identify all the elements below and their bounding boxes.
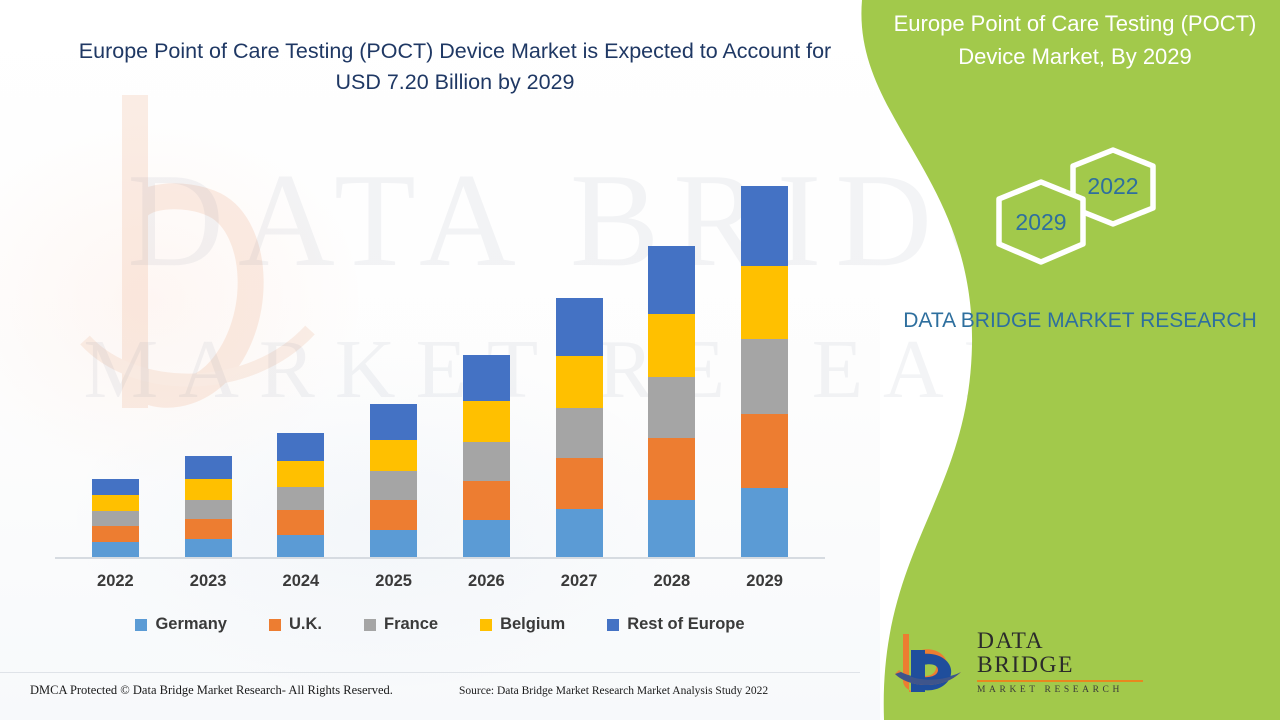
bar-segment bbox=[648, 246, 695, 314]
logo-sub-text: MARKET RESEARCH bbox=[977, 686, 1143, 696]
bar-segment bbox=[463, 481, 510, 520]
legend-item[interactable]: U.K. bbox=[269, 615, 322, 634]
bar-column bbox=[162, 175, 255, 558]
legend-item[interactable]: Germany bbox=[135, 615, 227, 634]
bar-stack-2027 bbox=[556, 298, 603, 558]
bar-segment bbox=[741, 414, 788, 488]
bar-segment bbox=[648, 377, 695, 438]
x-axis-label: 2029 bbox=[718, 572, 811, 591]
bar-segment bbox=[648, 314, 695, 377]
bar-column bbox=[440, 175, 533, 558]
legend-item[interactable]: Belgium bbox=[480, 615, 565, 634]
bar-segment bbox=[463, 401, 510, 442]
hexagon-2029-label: 2029 bbox=[1015, 209, 1066, 235]
legend-swatch-icon bbox=[480, 619, 492, 631]
bar-segment bbox=[277, 433, 324, 461]
bar-stack-2023 bbox=[185, 456, 232, 558]
bar-segment bbox=[648, 438, 695, 500]
bar-segment bbox=[185, 479, 232, 500]
legend-swatch-icon bbox=[269, 619, 281, 631]
bar-segment bbox=[92, 526, 139, 542]
x-axis-label: 2025 bbox=[347, 572, 440, 591]
bar-stack-2025 bbox=[370, 404, 417, 558]
bar-column bbox=[347, 175, 440, 558]
bar-column bbox=[533, 175, 626, 558]
infographic-canvas: DATA BRIDGE MARKET RESEARCH Europe Point… bbox=[0, 0, 1280, 720]
chart-plot-area bbox=[55, 175, 825, 558]
x-axis-label: 2028 bbox=[626, 572, 719, 591]
logo-underline bbox=[977, 680, 1143, 682]
bar-segment bbox=[463, 520, 510, 558]
bar-segment bbox=[370, 500, 417, 530]
bar-column bbox=[718, 175, 811, 558]
bar-segment bbox=[741, 488, 788, 558]
bar-segment bbox=[648, 500, 695, 558]
bar-stack-2024 bbox=[277, 433, 324, 558]
panel-brand-text: DATA BRIDGE MARKET RESEARCH bbox=[880, 305, 1280, 337]
brand-logo: DATA BRIDGE MARKET RESEARCH bbox=[893, 628, 1143, 698]
bar-segment bbox=[741, 186, 788, 266]
bar-segment bbox=[741, 266, 788, 339]
legend-label: France bbox=[384, 615, 438, 634]
bar-segment bbox=[92, 495, 139, 511]
bar-segment bbox=[277, 461, 324, 487]
bar-segment bbox=[556, 298, 603, 356]
footer-divider bbox=[0, 672, 860, 673]
bar-stack-2022 bbox=[92, 479, 139, 558]
bar-segment bbox=[556, 356, 603, 408]
bar-segment bbox=[463, 355, 510, 401]
bar-stack-2028 bbox=[648, 246, 695, 558]
panel-content: Europe Point of Care Testing (POCT) Devi… bbox=[880, 0, 1280, 720]
bar-segment bbox=[370, 530, 417, 558]
footer-source: Source: Data Bridge Market Research Mark… bbox=[459, 685, 768, 697]
hexagon-2022-label: 2022 bbox=[1087, 173, 1138, 199]
x-axis-label: 2027 bbox=[533, 572, 626, 591]
bar-segment bbox=[556, 458, 603, 509]
legend-label: Rest of Europe bbox=[627, 615, 744, 634]
bar-segment bbox=[92, 479, 139, 495]
bar-segment bbox=[185, 519, 232, 539]
logo-main-text: DATA BRIDGE bbox=[977, 630, 1143, 677]
bar-stack-2029 bbox=[741, 186, 788, 558]
chart-x-axis-labels: 20222023202420252026202720282029 bbox=[55, 572, 825, 591]
legend-item[interactable]: France bbox=[364, 615, 438, 634]
x-axis-label: 2023 bbox=[162, 572, 255, 591]
data-bridge-logo-icon bbox=[893, 630, 967, 696]
bar-segment bbox=[556, 408, 603, 458]
legend-label: Germany bbox=[155, 615, 227, 634]
x-axis-label: 2022 bbox=[69, 572, 162, 591]
legend-swatch-icon bbox=[364, 619, 376, 631]
bar-segment bbox=[556, 509, 603, 558]
bar-segment bbox=[741, 339, 788, 414]
legend-swatch-icon bbox=[607, 619, 619, 631]
legend-label: U.K. bbox=[289, 615, 322, 634]
panel-title: Europe Point of Care Testing (POCT) Devi… bbox=[875, 8, 1275, 73]
bar-segment bbox=[185, 456, 232, 479]
footer-copyright: DMCA Protected © Data Bridge Market Rese… bbox=[30, 683, 393, 698]
bar-segment bbox=[92, 511, 139, 526]
bar-segment bbox=[370, 471, 417, 500]
x-axis-label: 2026 bbox=[440, 572, 533, 591]
legend-item[interactable]: Rest of Europe bbox=[607, 615, 744, 634]
bar-segment bbox=[92, 542, 139, 558]
bar-segment bbox=[463, 442, 510, 481]
page-title: Europe Point of Care Testing (POCT) Devi… bbox=[60, 36, 850, 97]
bar-segment bbox=[277, 487, 324, 510]
bar-segment bbox=[370, 404, 417, 440]
bar-segment bbox=[277, 510, 324, 535]
chart-x-axis-line bbox=[55, 557, 825, 559]
bar-segment bbox=[370, 440, 417, 471]
stacked-bar-chart bbox=[55, 175, 825, 558]
bar-column bbox=[69, 175, 162, 558]
bar-column bbox=[255, 175, 348, 558]
logo-wordmark: DATA BRIDGE MARKET RESEARCH bbox=[977, 630, 1143, 695]
bar-segment bbox=[277, 535, 324, 558]
bar-segment bbox=[185, 500, 232, 519]
bar-column bbox=[626, 175, 719, 558]
x-axis-label: 2024 bbox=[255, 572, 348, 591]
hexagon-year-badges: 2022 2029 bbox=[985, 142, 1185, 292]
legend-label: Belgium bbox=[500, 615, 565, 634]
chart-legend: GermanyU.K.FranceBelgiumRest of Europe bbox=[55, 615, 825, 634]
bar-stack-2026 bbox=[463, 355, 510, 558]
bar-segment bbox=[185, 539, 232, 558]
legend-swatch-icon bbox=[135, 619, 147, 631]
